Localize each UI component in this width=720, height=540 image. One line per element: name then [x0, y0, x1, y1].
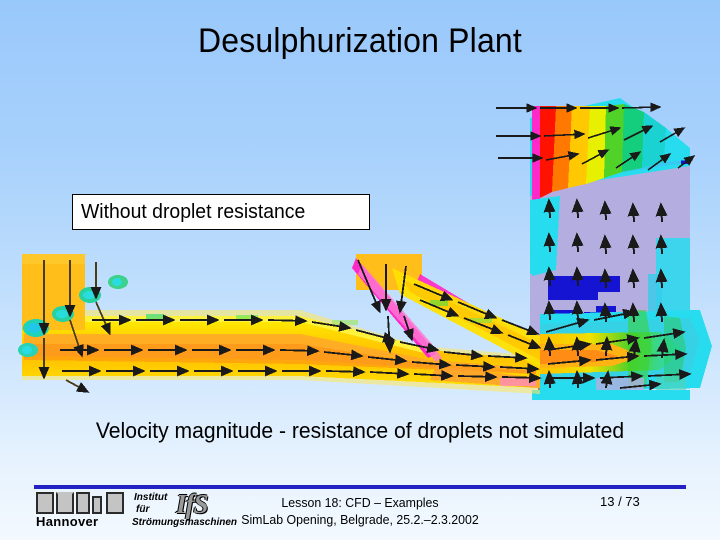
callout-box: Without droplet resistance [72, 194, 370, 230]
footer-divider [34, 485, 686, 489]
slide: Desulphurization Plant [0, 0, 720, 540]
figure-caption: Velocity magnitude - resistance of dropl… [14, 418, 705, 444]
velocity-magnitude-contour-plot [0, 88, 720, 408]
callout-label: Without droplet resistance [81, 201, 305, 224]
footer-line-2: SimLab Opening, Belgrade, 25.2.–2.3.2002 [18, 511, 702, 528]
page-title: Desulphurization Plant [22, 22, 699, 61]
page-number: 13 / 73 [600, 494, 690, 509]
